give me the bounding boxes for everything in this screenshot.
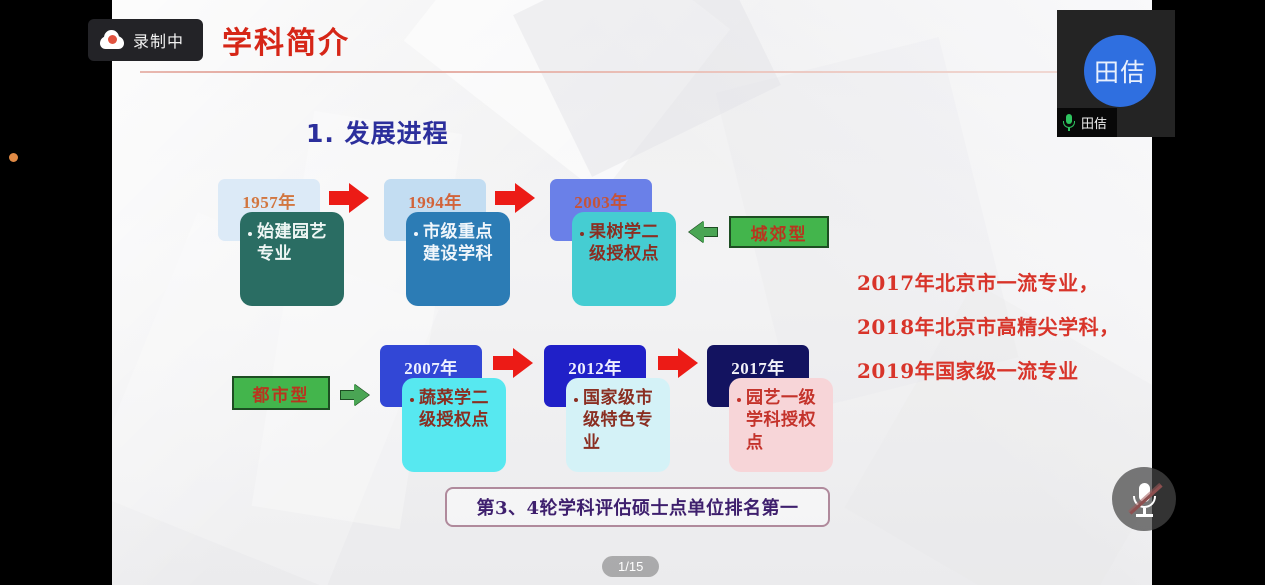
bullet-icon — [574, 398, 578, 402]
arrow-right-icon — [340, 384, 370, 406]
bottom-callout-text: 第3、4轮学科评估硕士点单位排名第一 — [476, 494, 798, 520]
note-line: 2018年北京市高精尖学科， — [857, 311, 1120, 340]
year-label: 1957年 — [242, 188, 296, 213]
bullet-icon — [580, 232, 584, 236]
card-text: 园艺一级学科授权点 — [746, 387, 826, 454]
recording-label: 录制中 — [133, 28, 184, 52]
year-label: 2003年 — [574, 188, 628, 213]
year-label: 1994年 — [408, 188, 462, 213]
card-text: 果树学二级授权点 — [589, 221, 669, 266]
bullet-icon — [248, 232, 252, 236]
type-tag-label: 都市型 — [253, 381, 310, 406]
recording-badge[interactable]: 录制中 — [88, 19, 203, 61]
achievement-notes: 2017年北京市一流专业， 2018年北京市高精尖学科， 2019年国家级一流专… — [857, 267, 1120, 384]
avatar: 田佶 — [1084, 35, 1156, 107]
year-label: 2007年 — [404, 354, 458, 379]
mute-toggle-button[interactable] — [1112, 467, 1176, 531]
participant-name: 田佶 — [1081, 113, 1107, 132]
title-divider — [140, 71, 1120, 73]
content-card: 果树学二级授权点 — [572, 212, 676, 306]
page-indicator: 1/15 — [602, 556, 659, 577]
content-card: 园艺一级学科授权点 — [729, 378, 833, 472]
participant-name-plate: 田佶 — [1057, 108, 1117, 137]
year-label: 2017年 — [731, 354, 785, 379]
content-card: 国家级市级特色专业 — [566, 378, 670, 472]
bottom-callout: 第3、4轮学科评估硕士点单位排名第一 — [445, 487, 830, 527]
note-line: 2017年北京市一流专业， — [857, 267, 1120, 296]
type-tag-label: 城郊型 — [751, 220, 808, 245]
note-line: 2019年国家级一流专业 — [857, 355, 1120, 384]
content-card: 始建园艺专业 — [240, 212, 344, 306]
type-tag-suburban: 城郊型 — [729, 216, 829, 248]
microphone-on-icon — [1063, 114, 1075, 131]
year-label: 2012年 — [568, 354, 622, 379]
participant-video-tile[interactable]: 田佶 田佶 — [1057, 10, 1175, 137]
arrow-right-icon — [658, 348, 698, 378]
screen-root: 学科简介 1. 发展进程 1957年 始建园艺专业 1994年 市级重点建设学科 — [0, 0, 1265, 585]
presentation-slide[interactable]: 学科简介 1. 发展进程 1957年 始建园艺专业 1994年 市级重点建设学科 — [112, 0, 1152, 585]
section-heading: 1. 发展进程 — [306, 114, 449, 150]
arrow-right-icon — [329, 183, 369, 213]
slide-title: 学科简介 — [222, 18, 350, 62]
type-tag-urban: 都市型 — [232, 376, 330, 410]
card-text: 始建园艺专业 — [257, 221, 337, 266]
card-text: 市级重点建设学科 — [423, 221, 503, 266]
card-text: 国家级市级特色专业 — [583, 387, 663, 454]
recording-cloud-icon — [100, 32, 124, 49]
status-dot — [9, 153, 18, 162]
bullet-icon — [410, 398, 414, 402]
content-card: 蔬菜学二级授权点 — [402, 378, 506, 472]
arrow-right-icon — [493, 348, 533, 378]
bullet-icon — [414, 232, 418, 236]
bullet-icon — [737, 398, 741, 402]
avatar-initials: 田佶 — [1094, 53, 1146, 89]
card-text: 蔬菜学二级授权点 — [419, 387, 499, 432]
arrow-right-icon — [495, 183, 535, 213]
arrow-left-icon — [688, 221, 718, 243]
content-card: 市级重点建设学科 — [406, 212, 510, 306]
